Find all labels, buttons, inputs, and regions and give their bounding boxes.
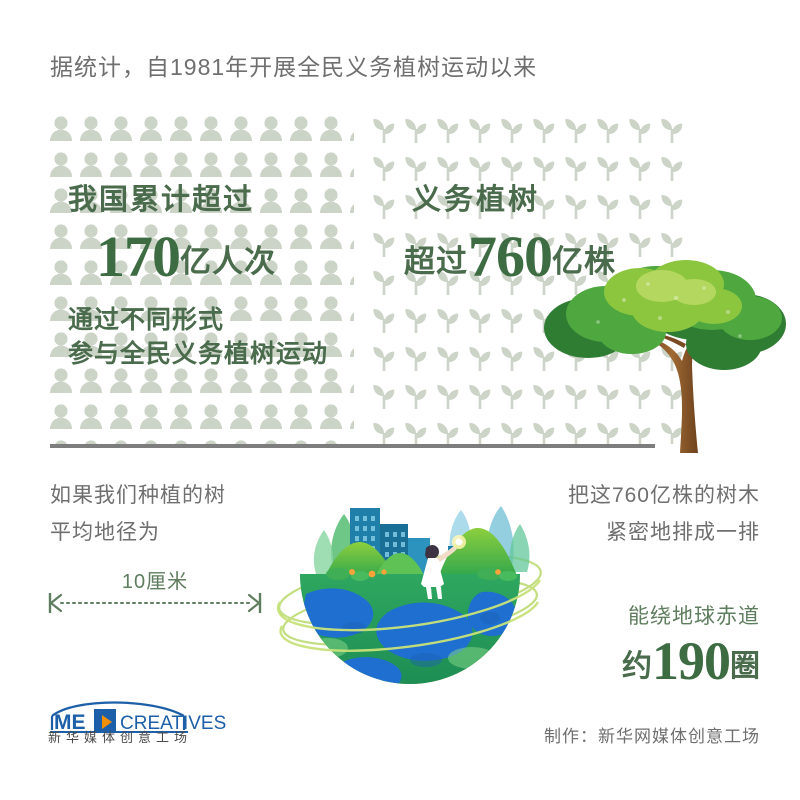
left-stat-line3b: 参与全民义务植树运动 bbox=[68, 338, 368, 372]
dimension-arrow-icon bbox=[45, 591, 265, 615]
bottom-right-prefix: 约 bbox=[622, 650, 652, 683]
bottom-right-text: 把这760亿株的树木 紧密地排成一排 bbox=[568, 478, 760, 552]
left-stat-line3: 通过不同形式 参与全民义务植树运动 bbox=[68, 304, 368, 372]
right-stat-line1: 义务植树 bbox=[412, 186, 704, 215]
left-stat-unit: 亿人次 bbox=[180, 244, 276, 279]
logo-subtitle: 新华媒体创意工场 bbox=[48, 727, 192, 746]
right-stat-prefix: 超过 bbox=[404, 244, 468, 279]
bottom-left-text: 如果我们种植的树 平均地径为 bbox=[50, 478, 226, 552]
dimension-label: 10厘米 bbox=[45, 565, 265, 594]
tree-illustration bbox=[528, 248, 800, 453]
bottom-right-line2: 紧密地排成一排 bbox=[568, 515, 760, 552]
bottom-left-line2: 平均地径为 bbox=[50, 515, 226, 552]
infographic-canvas: 据统计，自1981年开展全民义务植树运动以来 bbox=[0, 0, 800, 800]
left-stat-line1: 我国累计超过 bbox=[68, 186, 368, 215]
bottom-right-value-row: 约190圈 bbox=[622, 630, 760, 692]
bottom-right-unit: 圈 bbox=[730, 650, 760, 683]
credit-text: 制作：新华网媒体创意工场 bbox=[544, 722, 760, 747]
dimension-indicator: 10厘米 bbox=[45, 565, 265, 620]
left-stat-number: 170 bbox=[96, 224, 180, 289]
globe-hemisphere-illustration bbox=[276, 462, 544, 694]
bottom-right-line3: 能绕地球赤道 bbox=[628, 600, 760, 630]
left-stat-line3a: 通过不同形式 bbox=[68, 304, 368, 338]
section-divider bbox=[50, 444, 655, 448]
left-stat-block: 我国累计超过 170亿人次 通过不同形式 参与全民义务植树运动 bbox=[68, 186, 368, 372]
bottom-left-line1: 如果我们种植的树 bbox=[50, 478, 226, 515]
left-stat-value-row: 170亿人次 bbox=[68, 223, 368, 290]
bottom-right-line1: 把这760亿株的树木 bbox=[568, 478, 760, 515]
bottom-right-number: 190 bbox=[652, 631, 730, 691]
page-title: 据统计，自1981年开展全民义务植树运动以来 bbox=[50, 48, 537, 82]
